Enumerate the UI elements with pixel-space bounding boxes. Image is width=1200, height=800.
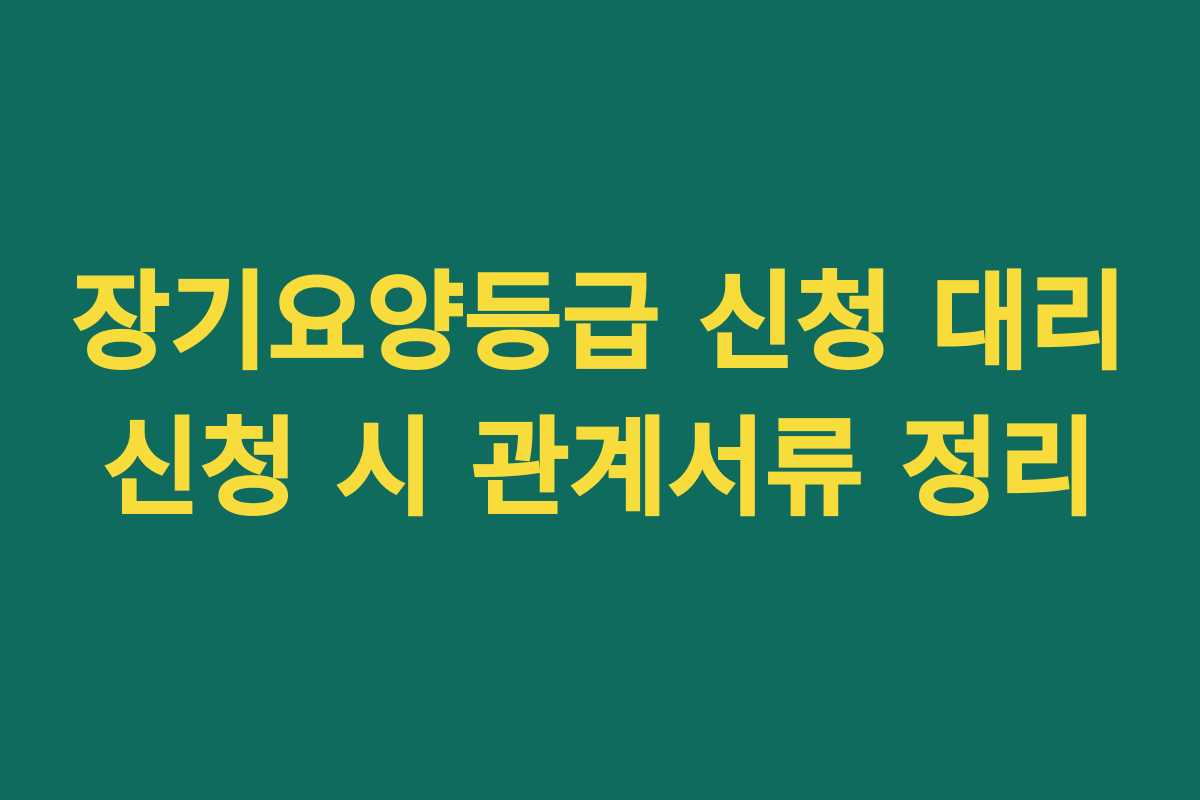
title-line-2: 신청 시 관계서류 정리 (0, 397, 1200, 541)
title-line-1: 장기요양등급 신청 대리 (0, 251, 1200, 395)
thumbnail-card: 장기요양등급 신청 대리 신청 시 관계서류 정리 (0, 0, 1200, 800)
title-block: 장기요양등급 신청 대리 신청 시 관계서류 정리 (0, 251, 1200, 541)
